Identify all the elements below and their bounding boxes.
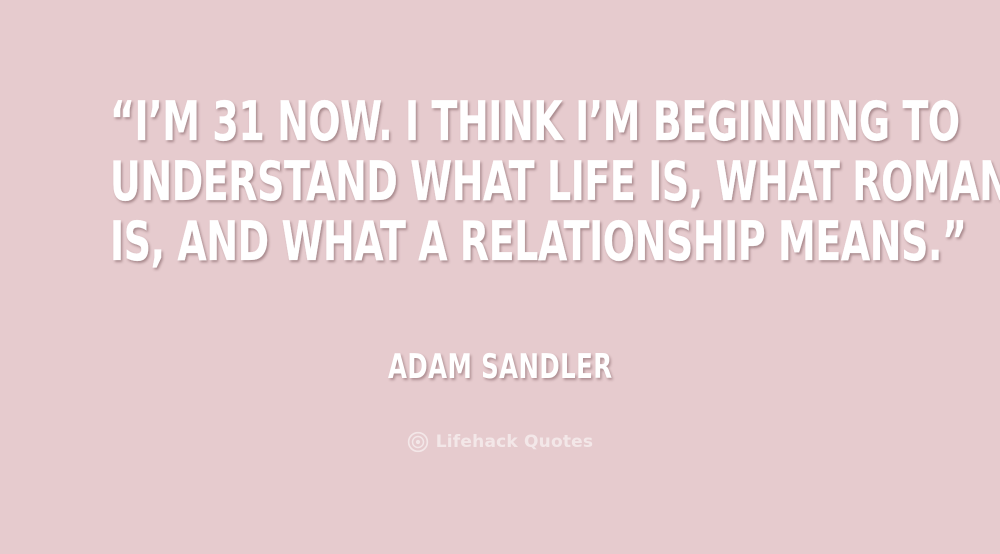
quote-card: “I’M 31 NOW. I THINK I’M BEGINNING TO UN… xyxy=(0,0,1000,554)
copyright-spiral-icon xyxy=(407,431,429,453)
watermark: Lifehack Quotes xyxy=(0,431,1000,453)
quote-author-name: ADAM SANDLER xyxy=(388,348,612,386)
quote-line-1: “I’M 31 NOW. I THINK I’M BEGINNING TO xyxy=(110,92,890,152)
watermark-label: Lifehack Quotes xyxy=(436,431,593,453)
quote-author: ADAM SANDLER xyxy=(0,348,1000,386)
quote-text: “I’M 31 NOW. I THINK I’M BEGINNING TO UN… xyxy=(0,92,1000,272)
quote-line-2: UNDERSTAND WHAT LIFE IS, WHAT ROMANCE xyxy=(110,152,890,212)
quote-line-3: IS, AND WHAT A RELATIONSHIP MEANS.” xyxy=(110,212,890,272)
